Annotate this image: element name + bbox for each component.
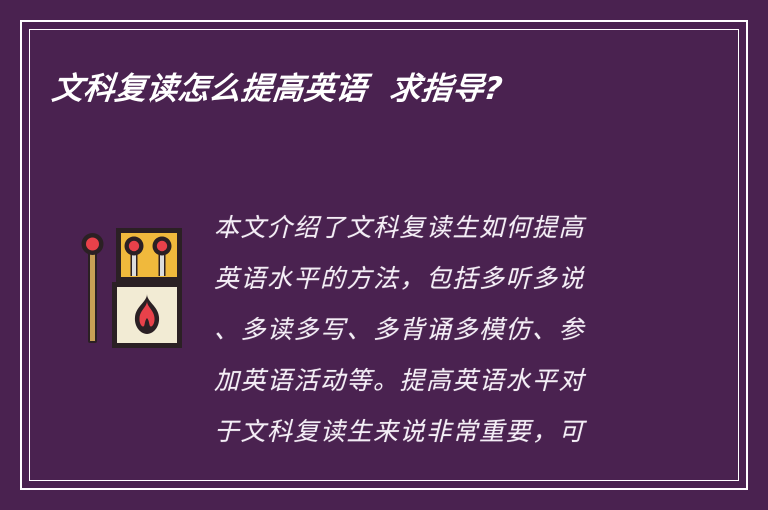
illustration-area [52,200,202,350]
page-title: 文科复读怎么提高英语 求指导? [50,72,504,108]
body-line: 本文介绍了文科复读生如何提高 [214,202,716,253]
content-row: 本文介绍了文科复读生如何提高 英语水平的方法，包括多听多说 、多读多写、多背诵多… [52,200,716,468]
body-line: 英语水平的方法，包括多听多说 [214,253,716,304]
body-copy: 本文介绍了文科复读生如何提高 英语水平的方法，包括多听多说 、多读多写、多背诵多… [202,200,716,457]
single-match-icon [82,233,104,343]
body-line: 、多读多写、多背诵多模仿、参 [214,304,716,355]
body-line: 于文科复读生来说非常重要，可 [214,406,716,457]
matchbox-icon [68,220,186,350]
matchbox-body-icon [112,228,182,348]
body-line: 加英语活动等。提高英语水平对 [214,355,716,406]
title-block: 文科复读怎么提高英语 求指导? [52,64,692,116]
